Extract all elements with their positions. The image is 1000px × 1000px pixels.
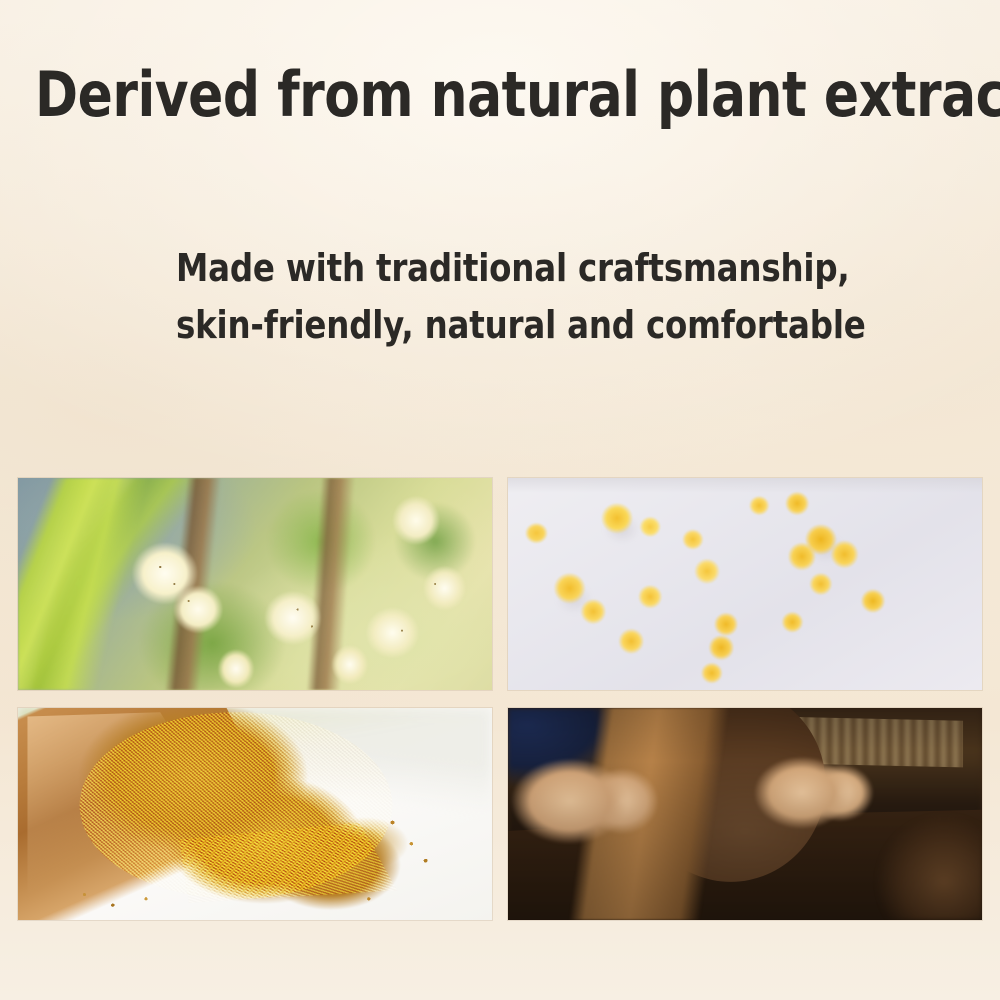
- photo-grid: [18, 478, 982, 920]
- photo2-top-edge-layer: [508, 478, 982, 690]
- photo-osmanthus-blossoms-on-branch: [18, 478, 492, 690]
- subtitle-block: Made with traditional craftsmanship, ski…: [176, 240, 898, 354]
- photo1-soft-light-layer: [18, 478, 492, 690]
- photo4-vignette-layer: [508, 708, 982, 920]
- photo-traditional-stone-mill-grinding: [508, 708, 982, 920]
- photo3-scattered-petals-layer: [18, 708, 492, 920]
- product-feature-banner: Derived from natural plant extracts Made…: [0, 0, 1000, 1000]
- page-title: Derived from natural plant extracts: [35, 62, 965, 128]
- subtitle-line-2: skin-friendly, natural and comfortable: [176, 297, 898, 354]
- photo-dried-osmanthus-in-bamboo-scoop: [18, 708, 492, 920]
- subtitle-line-1: Made with traditional craftsmanship,: [176, 240, 898, 297]
- photo-loose-yellow-osmanthus-flowers: [508, 478, 982, 690]
